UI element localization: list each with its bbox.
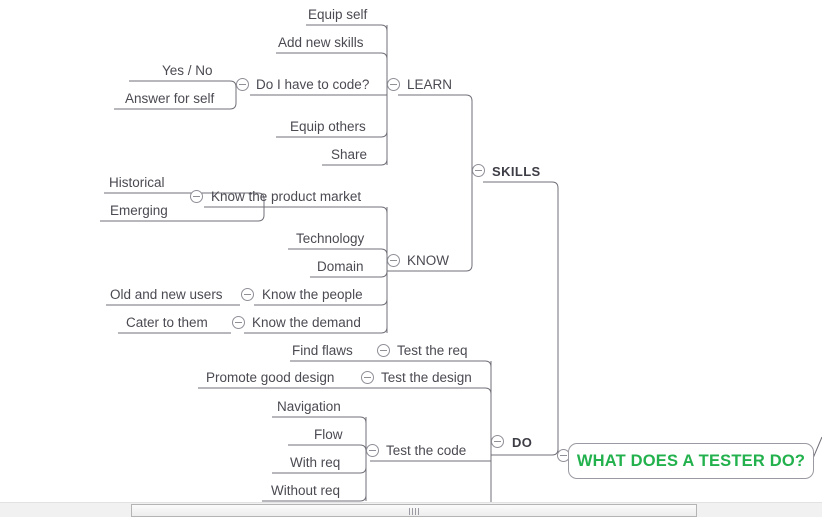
root-node[interactable]: WHAT DOES A TESTER DO? (568, 443, 814, 479)
minus-circle-icon-know[interactable] (387, 254, 400, 267)
minus-circle-icon-skills[interactable] (472, 164, 485, 177)
node-skills[interactable]: SKILLS (492, 164, 541, 180)
node-technology[interactable]: Technology (296, 231, 364, 247)
node-historical[interactable]: Historical (109, 175, 165, 191)
node-find-flaws[interactable]: Find flaws (292, 343, 353, 359)
minus-circle-icon-know-the-product-market[interactable] (190, 190, 203, 203)
node-without-req[interactable]: Without req (271, 483, 340, 499)
scrollbar-grip-icon (409, 508, 419, 515)
horizontal-scrollbar[interactable] (0, 502, 822, 517)
node-equip-others[interactable]: Equip others (290, 119, 366, 135)
node-promote-good-design[interactable]: Promote good design (206, 370, 334, 386)
node-with-req[interactable]: With req (290, 455, 340, 471)
connector-lines (0, 0, 822, 502)
node-navigation[interactable]: Navigation (277, 399, 341, 415)
node-test-the-code[interactable]: Test the code (386, 443, 466, 459)
node-emerging[interactable]: Emerging (110, 203, 168, 219)
minus-circle-icon-test-the-code[interactable] (366, 444, 379, 457)
minus-circle-icon-do-i-have-to-code[interactable] (236, 78, 249, 91)
node-test-the-design[interactable]: Test the design (381, 370, 472, 386)
node-know-the-demand[interactable]: Know the demand (252, 315, 361, 331)
node-equip-self[interactable]: Equip self (308, 7, 367, 23)
minus-circle-icon-know-the-people[interactable] (241, 288, 254, 301)
node-know-the-people[interactable]: Know the people (262, 287, 363, 303)
node-share[interactable]: Share (331, 147, 367, 163)
node-do-i-have-to-code[interactable]: Do I have to code? (256, 77, 369, 93)
minus-circle-icon-learn[interactable] (387, 78, 400, 91)
minus-circle-icon-test-the-design[interactable] (361, 371, 374, 384)
horizontal-scrollbar-thumb[interactable] (131, 504, 697, 517)
node-do[interactable]: DO (512, 435, 532, 451)
node-domain[interactable]: Domain (317, 259, 364, 275)
node-flow[interactable]: Flow (314, 427, 343, 443)
minus-circle-icon-know-the-demand[interactable] (232, 316, 245, 329)
root-node-label: WHAT DOES A TESTER DO? (577, 452, 805, 471)
node-old-and-new-users[interactable]: Old and new users (110, 287, 223, 303)
mindmap-app: Equip self Add new skills Yes / No Do I … (0, 0, 822, 517)
minus-circle-icon-test-the-req[interactable] (377, 344, 390, 357)
node-learn[interactable]: LEARN (407, 77, 452, 93)
node-know[interactable]: KNOW (407, 253, 449, 269)
minus-circle-icon-do[interactable] (491, 435, 504, 448)
mindmap-canvas[interactable]: Equip self Add new skills Yes / No Do I … (0, 0, 822, 502)
node-test-the-req[interactable]: Test the req (397, 343, 468, 359)
node-add-new-skills[interactable]: Add new skills (278, 35, 364, 51)
node-know-the-product-market[interactable]: Know the product market (211, 189, 361, 205)
node-answer-for-self[interactable]: Answer for self (125, 91, 214, 107)
node-yes-no[interactable]: Yes / No (162, 63, 213, 79)
node-cater-to-them[interactable]: Cater to them (126, 315, 208, 331)
